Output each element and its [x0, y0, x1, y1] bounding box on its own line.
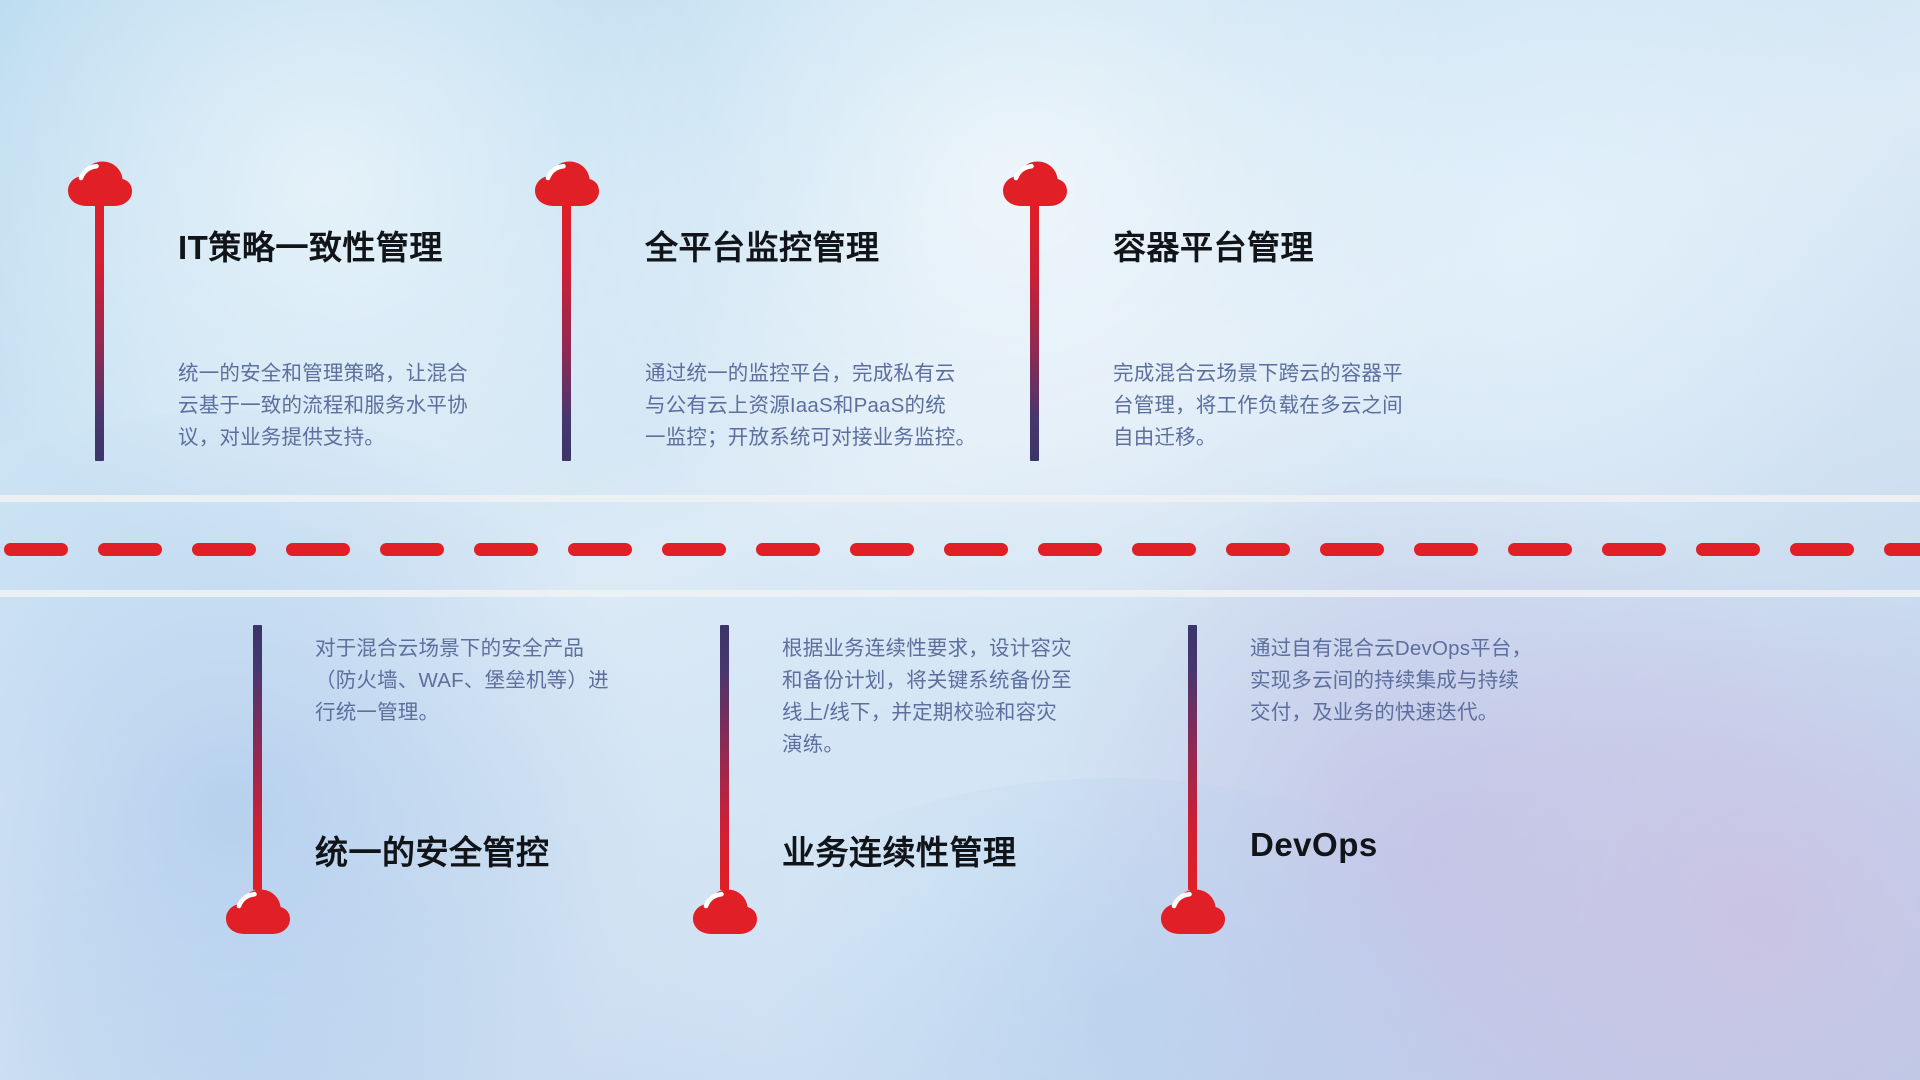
connector-line	[95, 203, 104, 461]
cloud-icon	[533, 160, 601, 208]
road-dash	[1508, 543, 1572, 556]
road-dash	[662, 543, 726, 556]
feature-title: 业务连续性管理	[782, 826, 1017, 874]
road-dash	[944, 543, 1008, 556]
cloud-icon	[1159, 888, 1227, 936]
cloud-icon	[66, 160, 134, 208]
description-line: 与公有云上资源IaaS和PaaS的统	[645, 390, 976, 422]
feature-title: 容器平台管理	[1113, 221, 1314, 269]
road-dash	[4, 543, 68, 556]
description-line: 通过自有混合云DevOps平台，	[1250, 633, 1532, 665]
road-edge-line-top	[0, 495, 1920, 502]
connector-line	[253, 625, 262, 890]
road-dash	[1602, 543, 1666, 556]
feature-title: 统一的安全管控	[315, 826, 550, 874]
description-line: 统一的安全和管理策略，让混合	[178, 358, 468, 390]
road-dash	[1320, 543, 1384, 556]
road-dash	[1038, 543, 1102, 556]
cloud-icon-svg	[66, 160, 134, 208]
feature-description: 对于混合云场景下的安全产品（防火墙、WAF、堡垒机等）进行统一管理。	[315, 633, 609, 729]
description-line: 演练。	[782, 729, 1072, 761]
cloud-icon	[1001, 160, 1069, 208]
road-dash	[1132, 543, 1196, 556]
road-dash	[756, 543, 820, 556]
description-line: 交付，及业务的快速迭代。	[1250, 697, 1532, 729]
feature-description: 通过统一的监控平台，完成私有云与公有云上资源IaaS和PaaS的统一监控；开放系…	[645, 358, 976, 454]
cloud-icon-svg	[691, 888, 759, 936]
road-dash	[568, 543, 632, 556]
description-line: 议，对业务提供支持。	[178, 422, 468, 454]
cloud-icon-svg	[1001, 160, 1069, 208]
feature-description: 根据业务连续性要求，设计容灾和备份计划，将关键系统备份至线上/线下，并定期校验和…	[782, 633, 1072, 761]
feature-description: 通过自有混合云DevOps平台，实现多云间的持续集成与持续交付，及业务的快速迭代…	[1250, 633, 1532, 729]
connector-line	[562, 203, 571, 461]
road-dash	[474, 543, 538, 556]
road-dashed-center-line	[0, 543, 1920, 556]
description-line: 实现多云间的持续集成与持续	[1250, 665, 1532, 697]
road-dash	[192, 543, 256, 556]
road-dash	[1226, 543, 1290, 556]
feature-title: IT策略一致性管理	[178, 221, 443, 269]
connector-line	[1188, 625, 1197, 890]
road-edge-line-bottom	[0, 590, 1920, 597]
road-dash	[380, 543, 444, 556]
description-line: 根据业务连续性要求，设计容灾	[782, 633, 1072, 665]
description-line: 行统一管理。	[315, 697, 609, 729]
road-dash	[1414, 543, 1478, 556]
description-line: （防火墙、WAF、堡垒机等）进	[315, 665, 609, 697]
connector-line	[1030, 203, 1039, 461]
feature-description: 完成混合云场景下跨云的容器平台管理，将工作负载在多云之间自由迁移。	[1113, 358, 1403, 454]
description-line: 云基于一致的流程和服务水平协	[178, 390, 468, 422]
description-line: 自由迁移。	[1113, 422, 1403, 454]
feature-title: DevOps	[1250, 826, 1378, 864]
cloud-icon-svg	[224, 888, 292, 936]
description-line: 和备份计划，将关键系统备份至	[782, 665, 1072, 697]
road-dash	[286, 543, 350, 556]
feature-title: 全平台监控管理	[645, 221, 880, 269]
cloud-icon	[224, 888, 292, 936]
road-dash	[98, 543, 162, 556]
connector-line	[720, 625, 729, 890]
description-line: 一监控；开放系统可对接业务监控。	[645, 422, 976, 454]
cloud-icon	[691, 888, 759, 936]
description-line: 对于混合云场景下的安全产品	[315, 633, 609, 665]
cloud-icon-svg	[1159, 888, 1227, 936]
road-dash	[1790, 543, 1854, 556]
road-dash	[1696, 543, 1760, 556]
description-line: 线上/线下，并定期校验和容灾	[782, 697, 1072, 729]
description-line: 完成混合云场景下跨云的容器平	[1113, 358, 1403, 390]
feature-description: 统一的安全和管理策略，让混合云基于一致的流程和服务水平协议，对业务提供支持。	[178, 358, 468, 454]
description-line: 台管理，将工作负载在多云之间	[1113, 390, 1403, 422]
description-line: 通过统一的监控平台，完成私有云	[645, 358, 976, 390]
cloud-icon-svg	[533, 160, 601, 208]
road-dash	[1884, 543, 1920, 556]
road-dash	[850, 543, 914, 556]
